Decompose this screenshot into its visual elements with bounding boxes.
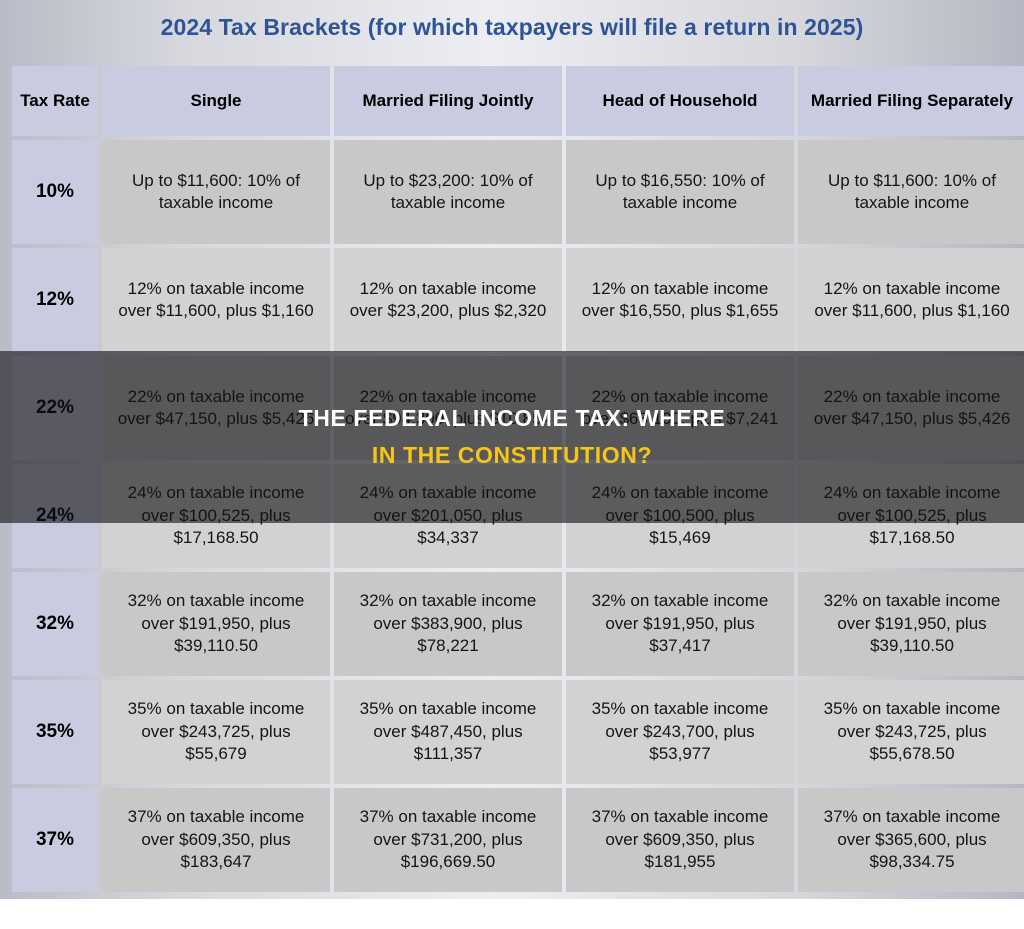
column-header-head-of-household: Head of Household [566,66,794,136]
bracket-cell: 12% on taxable income over $11,600, plus… [102,248,330,352]
table-row: 10% Up to $11,600: 10% of taxable income… [12,140,1024,244]
rate-cell: 35% [12,680,98,784]
bracket-cell: Up to $23,200: 10% of taxable income [334,140,562,244]
column-header-married-filing-separately: Married Filing Separately [798,66,1024,136]
caption-line-2: IN THE CONSTITUTION? [372,442,652,469]
bracket-cell: 12% on taxable income over $11,600, plus… [798,248,1024,352]
bracket-cell: 32% on taxable income over $191,950, plu… [102,572,330,676]
bracket-cell: Up to $11,600: 10% of taxable income [798,140,1024,244]
bracket-cell: 35% on taxable income over $243,725, plu… [798,680,1024,784]
bracket-cell: 35% on taxable income over $487,450, plu… [334,680,562,784]
column-header-single: Single [102,66,330,136]
page-root: 2024 Tax Brackets (for which taxpayers w… [0,0,1024,929]
bracket-cell: 37% on taxable income over $365,600, plu… [798,788,1024,892]
bracket-cell: 32% on taxable income over $383,900, plu… [334,572,562,676]
rate-cell: 12% [12,248,98,352]
bracket-cell: 35% on taxable income over $243,700, plu… [566,680,794,784]
rate-cell: 10% [12,140,98,244]
page-title: 2024 Tax Brackets (for which taxpayers w… [161,14,864,41]
bracket-cell: 37% on taxable income over $609,350, plu… [102,788,330,892]
caption-line-1: THE FEDERAL INCOME TAX: WHERE [299,405,726,432]
column-header-married-filing-jointly: Married Filing Jointly [334,66,562,136]
bracket-cell: 12% on taxable income over $23,200, plus… [334,248,562,352]
bottom-strip [0,899,1024,929]
bracket-cell: 32% on taxable income over $191,950, plu… [798,572,1024,676]
table-row: 12% 12% on taxable income over $11,600, … [12,248,1024,352]
caption-overlay: THE FEDERAL INCOME TAX: WHERE IN THE CON… [0,351,1024,523]
bracket-cell: 37% on taxable income over $731,200, plu… [334,788,562,892]
bracket-cell: 32% on taxable income over $191,950, plu… [566,572,794,676]
rate-cell: 37% [12,788,98,892]
table-row: 32% 32% on taxable income over $191,950,… [12,572,1024,676]
bracket-cell: 35% on taxable income over $243,725, plu… [102,680,330,784]
bracket-cell: Up to $16,550: 10% of taxable income [566,140,794,244]
table-header-row: Tax Rate Single Married Filing Jointly H… [12,66,1024,136]
bracket-cell: Up to $11,600: 10% of taxable income [102,140,330,244]
infographic-frame: 2024 Tax Brackets (for which taxpayers w… [0,0,1024,899]
bracket-cell: 12% on taxable income over $16,550, plus… [566,248,794,352]
rate-cell: 32% [12,572,98,676]
title-bar: 2024 Tax Brackets (for which taxpayers w… [0,0,1024,54]
bracket-cell: 37% on taxable income over $609,350, plu… [566,788,794,892]
table-row: 35% 35% on taxable income over $243,725,… [12,680,1024,784]
table-row: 37% 37% on taxable income over $609,350,… [12,788,1024,892]
table-header: Tax Rate Single Married Filing Jointly H… [12,66,1024,136]
column-header-tax-rate: Tax Rate [12,66,98,136]
